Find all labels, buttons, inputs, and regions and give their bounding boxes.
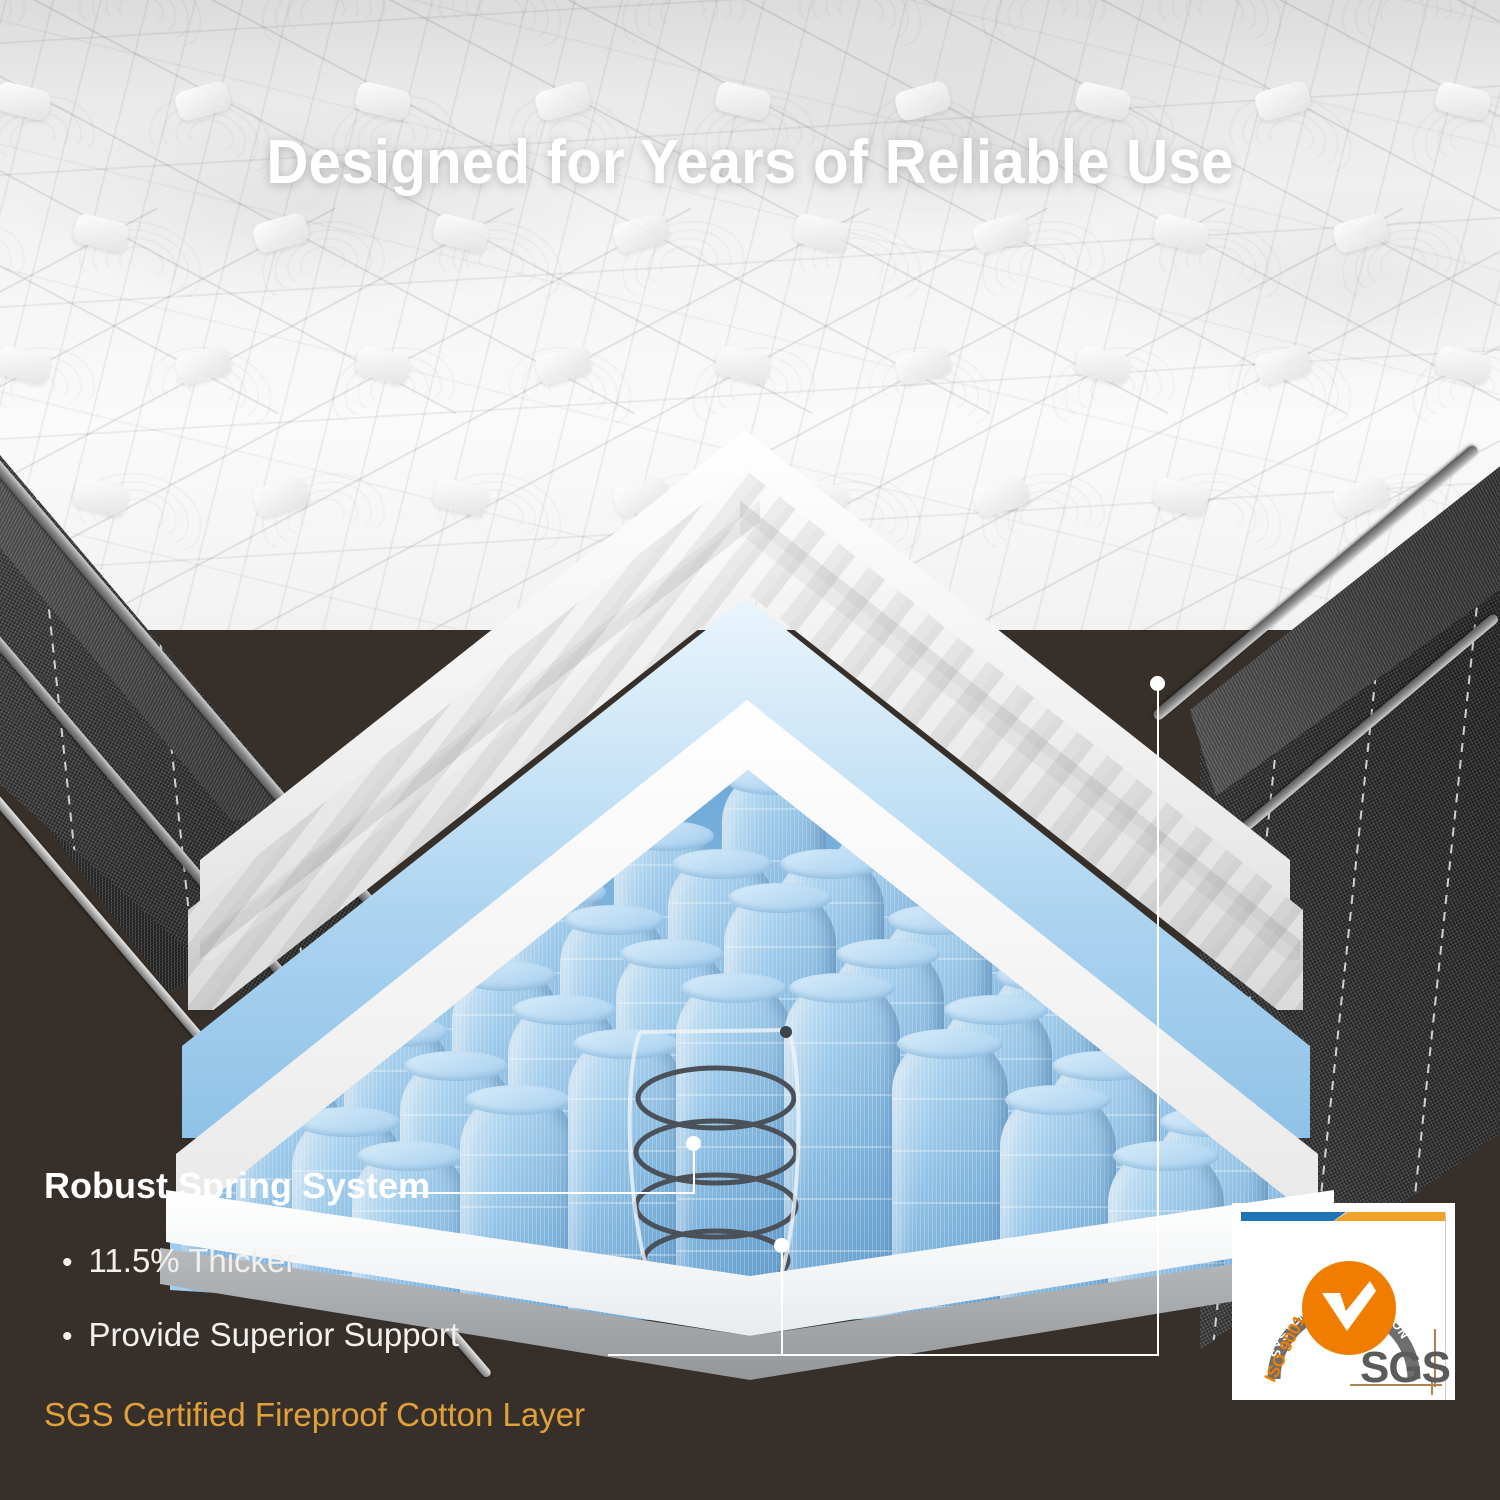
leader-dot-fireproof-layer	[1150, 676, 1165, 691]
bullet-glyph: •	[62, 1322, 73, 1352]
badge-bar-orange-segment	[1334, 1212, 1446, 1221]
leader-line-cotton-riser	[781, 1252, 783, 1356]
leader-line-spring-riser	[693, 1148, 695, 1194]
badge-brand-text: SGS	[1360, 1343, 1450, 1393]
callout-spring-heading: Robust Spring System	[44, 1168, 684, 1204]
callout-bullet-label: 11.5% Thicker	[89, 1242, 297, 1280]
bullet-glyph: •	[62, 1248, 73, 1278]
page-title: Designed for Years of Reliable Use	[45, 127, 1455, 198]
callout-sgs-layer-label: SGS Certified Fireproof Cotton Layer	[44, 1396, 684, 1434]
callout-text-block: Robust Spring System • 11.5% Thicker • P…	[44, 1168, 684, 1434]
infographic-canvas: Designed for Years of Reliable Use Robus…	[0, 0, 1500, 1500]
callout-bullet-item: • 11.5% Thicker	[62, 1242, 684, 1280]
callout-bullet-label: Provide Superior Support	[89, 1316, 460, 1354]
svg-text:ISO 9001: ISO 9001	[1261, 1312, 1310, 1385]
leader-line-fireproof-horizontal	[608, 1354, 1159, 1356]
callout-bullet-item: • Provide Superior Support	[62, 1316, 684, 1354]
sgs-certification-badge: SYSTEM CERTIFICATION SGS ISO 9001	[1232, 1203, 1455, 1400]
check-mark-icon	[1320, 1281, 1378, 1337]
leader-line-fireproof-vertical	[1157, 690, 1159, 1356]
badge-bar-blue-segment	[1241, 1212, 1346, 1221]
leader-dot-cotton-base	[774, 1238, 789, 1253]
badge-iso-text: ISO 9001	[1250, 1299, 1328, 1391]
badge-top-bar	[1241, 1212, 1446, 1221]
